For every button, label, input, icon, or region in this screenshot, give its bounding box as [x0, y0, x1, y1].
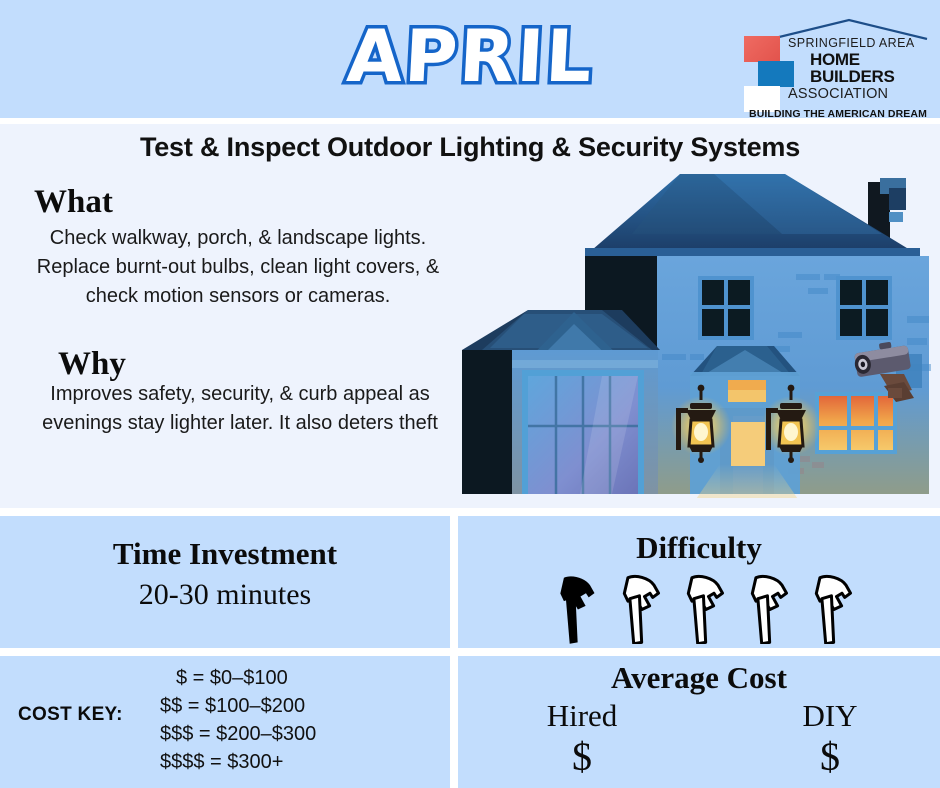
- month-title-text: APRIL: [345, 20, 595, 92]
- cost-key-list: $ = $0–$100 $$ = $100–$200 $$$ = $200–$3…: [160, 664, 440, 776]
- divider-vertical-row2: [450, 516, 458, 648]
- cost-key-label: COST KEY:: [18, 704, 158, 726]
- hammer-icon-outline: [796, 572, 858, 644]
- cost-key-entry: $ = $0–$100: [160, 664, 440, 692]
- diy-value: $: [750, 734, 910, 780]
- house-at-dusk-illustration: [452, 164, 940, 508]
- cost-key-panel: COST KEY: $ = $0–$100 $$ = $100–$200 $$$…: [0, 656, 450, 788]
- cost-key-entry: $$$$ = $300+: [160, 748, 440, 776]
- time-investment-panel: Time Investment 20-30 minutes: [0, 516, 450, 648]
- why-heading: Why: [58, 346, 126, 383]
- row-cost: COST KEY: $ = $0–$100 $$ = $100–$200 $$$…: [0, 656, 940, 788]
- logo-line-association: ASSOCIATION: [788, 86, 888, 102]
- average-cost-diy: DIY $: [750, 698, 910, 780]
- logo-line-springfield-area: SPRINGFIELD AREA: [788, 36, 915, 50]
- hired-label: Hired: [502, 698, 662, 734]
- divider-row2-row3: [0, 648, 940, 656]
- cost-key-entry: $$$ = $200–$300: [160, 720, 440, 748]
- row-time-difficulty: Time Investment 20-30 minutes Difficulty: [0, 516, 940, 648]
- diy-label: DIY: [750, 698, 910, 734]
- why-body-text: Improves safety, security, & curb appeal…: [20, 380, 460, 438]
- difficulty-panel: Difficulty: [458, 516, 940, 648]
- house-illustration-svg: [452, 164, 940, 508]
- hired-value: $: [502, 734, 662, 780]
- time-investment-value: 20-30 minutes: [0, 578, 450, 612]
- page-title: Test & Inspect Outdoor Lighting & Securi…: [0, 132, 940, 163]
- hammer-icon-outline: [668, 572, 730, 644]
- hammer-icon-outline: [604, 572, 666, 644]
- difficulty-rating: [458, 572, 940, 644]
- logo-square-red: [744, 36, 780, 62]
- logo-square-blue: [758, 61, 794, 87]
- monthly-home-maintenance-infographic: APRIL SPRINGFIELD AREA HOME BUILDERS ASS…: [0, 0, 940, 788]
- divider-main-row2: [0, 508, 940, 516]
- logo-line-home: HOME: [810, 51, 860, 68]
- average-cost-panel: Average Cost Hired $ DIY $: [458, 656, 940, 788]
- shba-logo: SPRINGFIELD AREA HOME BUILDERS ASSOCIATI…: [744, 18, 928, 108]
- logo-line-builders: BUILDERS: [810, 68, 895, 85]
- what-body-text: Check walkway, porch, & landscape lights…: [28, 224, 448, 311]
- cost-key-entry: $$ = $100–$200: [160, 692, 440, 720]
- time-investment-heading: Time Investment: [0, 536, 450, 572]
- main-content-panel: Test & Inspect Outdoor Lighting & Securi…: [0, 124, 940, 508]
- header-banner: APRIL SPRINGFIELD AREA HOME BUILDERS ASS…: [0, 0, 940, 118]
- what-heading: What: [34, 184, 113, 221]
- average-cost-hired: Hired $: [502, 698, 662, 780]
- difficulty-heading: Difficulty: [458, 530, 940, 566]
- hammer-icon-outline: [732, 572, 794, 644]
- average-cost-heading: Average Cost: [458, 660, 940, 696]
- hammer-icon-filled: [540, 572, 602, 644]
